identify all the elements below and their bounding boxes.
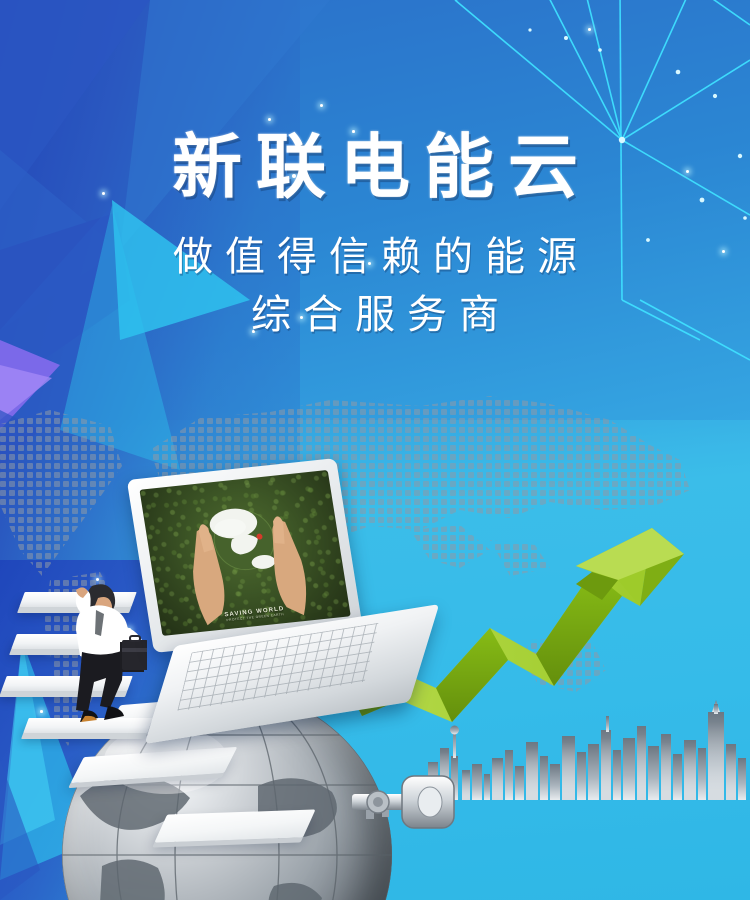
green-growth-arrow xyxy=(340,500,700,730)
poster-canvas: 新联电能云 做值得信赖的能源 综合服务商 xyxy=(0,0,750,900)
laptop-computer: SAVING WORLD PROTECT THE GREEN EARTH xyxy=(140,468,440,718)
screen-headline: SAVING WORLD PROTECT THE GREEN EARTH xyxy=(160,599,350,629)
page-subtitle: 做值得信赖的能源 综合服务商 xyxy=(0,228,750,344)
metal-globe xyxy=(62,690,392,900)
glow-dot xyxy=(320,104,323,107)
glow-dot xyxy=(588,28,591,31)
stair-step xyxy=(23,718,152,733)
city-skyline xyxy=(420,700,750,900)
glow-dot xyxy=(128,628,131,631)
laptop-screen: SAVING WORLD PROTECT THE GREEN EARTH xyxy=(139,470,350,636)
glow-dot xyxy=(268,118,271,121)
screen-subline: PROTECT THE GREEN EARTH xyxy=(161,605,350,629)
laptop-base xyxy=(145,604,440,744)
stair-step xyxy=(1,676,132,691)
page-title: 新联电能云 xyxy=(0,132,750,202)
laptop-lid: SAVING WORLD PROTECT THE GREEN EARTH xyxy=(127,458,364,653)
dotted-world-map xyxy=(0,390,750,780)
title-block: 新联电能云 做值得信赖的能源 综合服务商 xyxy=(0,132,750,344)
businessman-climbing-stairs xyxy=(52,580,147,740)
platform-slab xyxy=(110,695,245,725)
glow-dot xyxy=(96,578,99,581)
subtitle-line-2: 综合服务商 xyxy=(12,286,750,344)
platform-slab xyxy=(154,809,315,842)
stair-step xyxy=(11,634,134,649)
background-gradient-bottom xyxy=(0,420,750,900)
background-bottom-left-shade xyxy=(0,560,180,900)
platform-slab xyxy=(71,747,238,783)
stair-step xyxy=(19,592,136,607)
laptop-keyboard xyxy=(177,623,379,712)
grass-texture xyxy=(139,470,350,636)
silver-key xyxy=(352,768,467,838)
low-poly-beam-bottom-left xyxy=(0,640,150,900)
subtitle-line-1: 做值得信赖的能源 xyxy=(173,235,589,279)
glow-dot xyxy=(40,710,43,713)
glow-dot xyxy=(48,648,51,651)
